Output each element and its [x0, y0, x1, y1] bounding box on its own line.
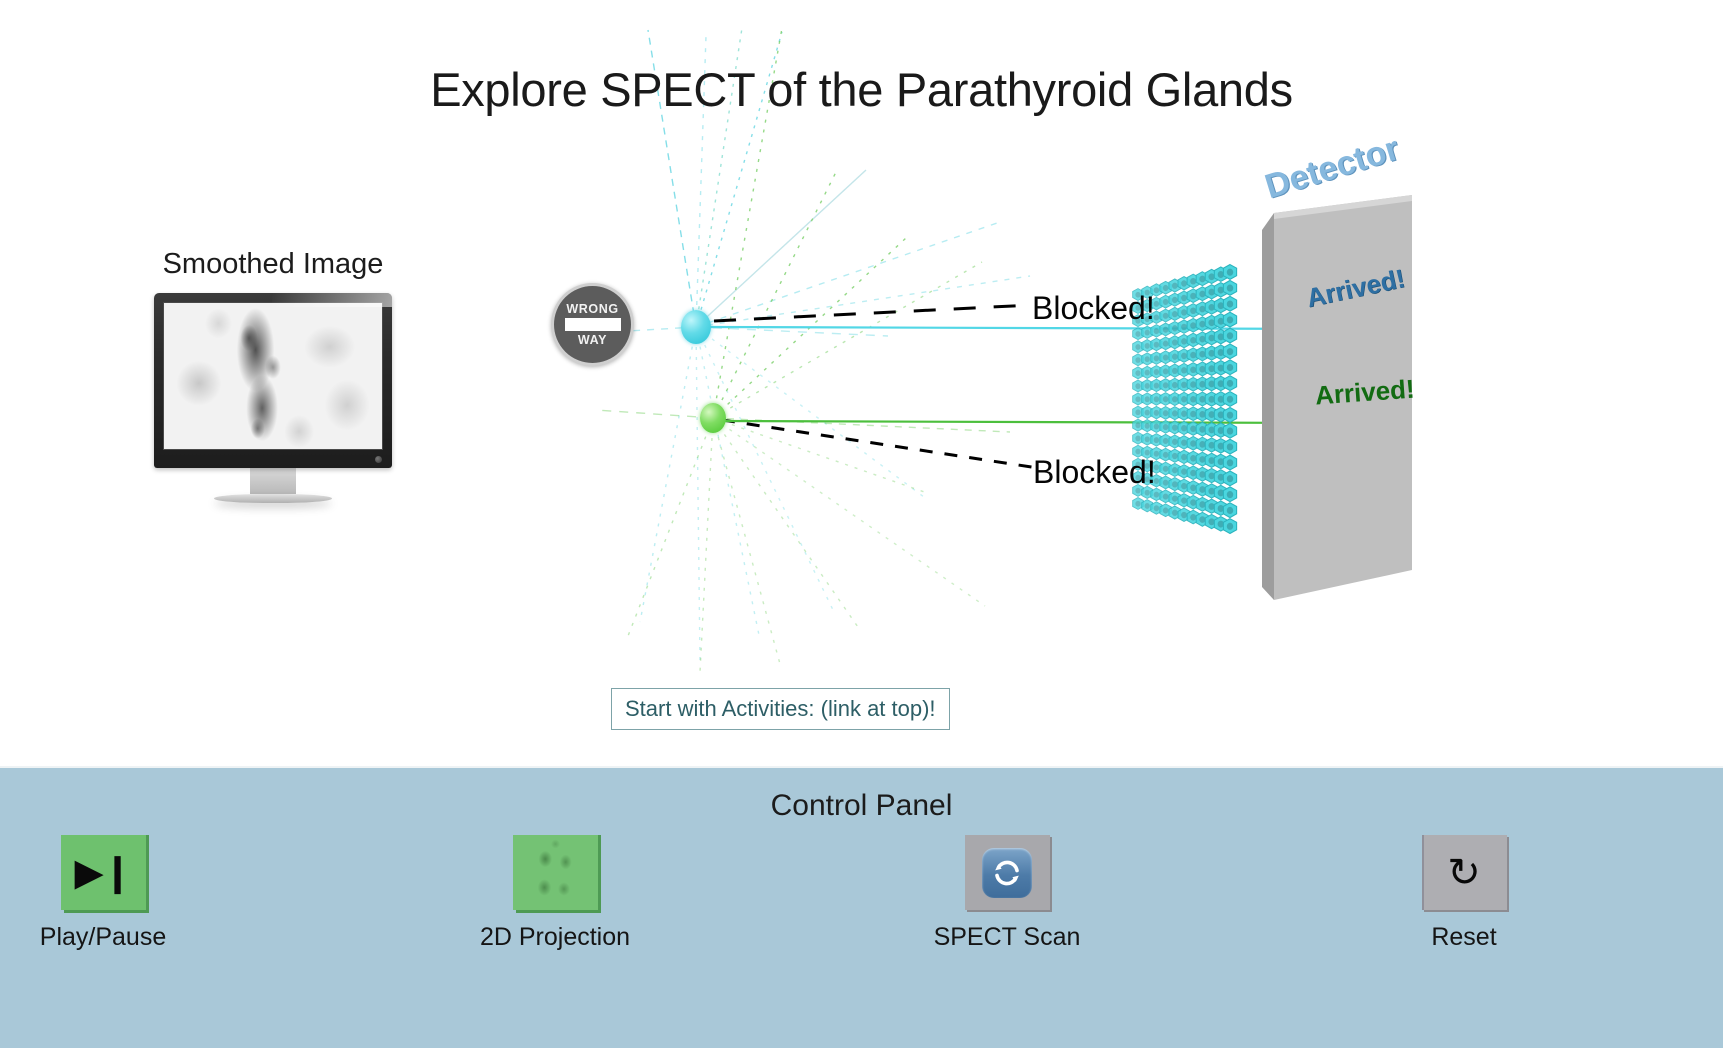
- play-pause-label: Play/Pause: [18, 923, 188, 952]
- projection-2d-button[interactable]: 2D Projection: [470, 835, 640, 952]
- page-title: Explore SPECT of the Parathyroid Glands: [0, 62, 1723, 117]
- reset-glyph: ↻: [1447, 853, 1481, 893]
- smoothed-image-caption: Smoothed Image: [148, 248, 398, 281]
- application-root: Explore SPECT of the Parathyroid Glands …: [0, 0, 1723, 1048]
- wrong-way-bar: [565, 318, 621, 331]
- play-pause-glyph: ▶❙: [74, 854, 131, 892]
- control-panel-buttons: ▶❙ Play/Pause 2D Projection: [0, 835, 1723, 1015]
- monitor-stand-neck: [250, 468, 296, 494]
- play-pause-icon[interactable]: ▶❙: [61, 835, 146, 910]
- control-panel-title: Control Panel: [0, 768, 1723, 823]
- wrong-way-top-text: WRONG: [566, 303, 618, 316]
- accepted-ray-group: [710, 326, 1341, 427]
- control-panel: Control Panel ▶❙ Play/Pause 2D Projectio…: [0, 766, 1723, 1048]
- monitor-screen-image: [163, 302, 383, 450]
- monitor-stand-base: [214, 494, 332, 503]
- activities-hint-box[interactable]: Start with Activities: (link at top)!: [611, 688, 950, 730]
- projection-thumbnail-icon[interactable]: [513, 835, 598, 910]
- play-pause-button[interactable]: ▶❙ Play/Pause: [18, 835, 188, 952]
- cyan-ray-group: [594, 28, 1030, 660]
- spect-scan-button[interactable]: SPECT Scan: [922, 835, 1092, 952]
- wrong-way-bottom-text: WAY: [578, 334, 607, 347]
- simulation-stage[interactable]: Explore SPECT of the Parathyroid Glands …: [0, 0, 1723, 838]
- smoothed-image-panel: Smoothed Image: [148, 248, 398, 503]
- green-photon-source[interactable]: [700, 403, 726, 433]
- wrong-way-sign-icon: WRONG WAY: [551, 283, 634, 366]
- cyan-photon-source[interactable]: [681, 310, 711, 344]
- spect-scan-label: SPECT Scan: [922, 923, 1092, 952]
- reset-circular-arrow-icon[interactable]: ↻: [1422, 835, 1507, 910]
- spect-scan-icon-wrap[interactable]: [965, 835, 1050, 910]
- blocked-label-top: Blocked!: [1032, 290, 1155, 327]
- blocked-label-bottom: Blocked!: [1033, 454, 1156, 491]
- projection-2d-label: 2D Projection: [470, 923, 640, 952]
- reset-label: Reset: [1379, 923, 1549, 952]
- reset-button[interactable]: ↻ Reset: [1379, 835, 1549, 952]
- green-ray-group: [596, 28, 1010, 672]
- blocked-ray-group: [714, 305, 1038, 468]
- monitor-frame: [154, 293, 392, 468]
- refresh-arrows-icon[interactable]: [982, 848, 1032, 898]
